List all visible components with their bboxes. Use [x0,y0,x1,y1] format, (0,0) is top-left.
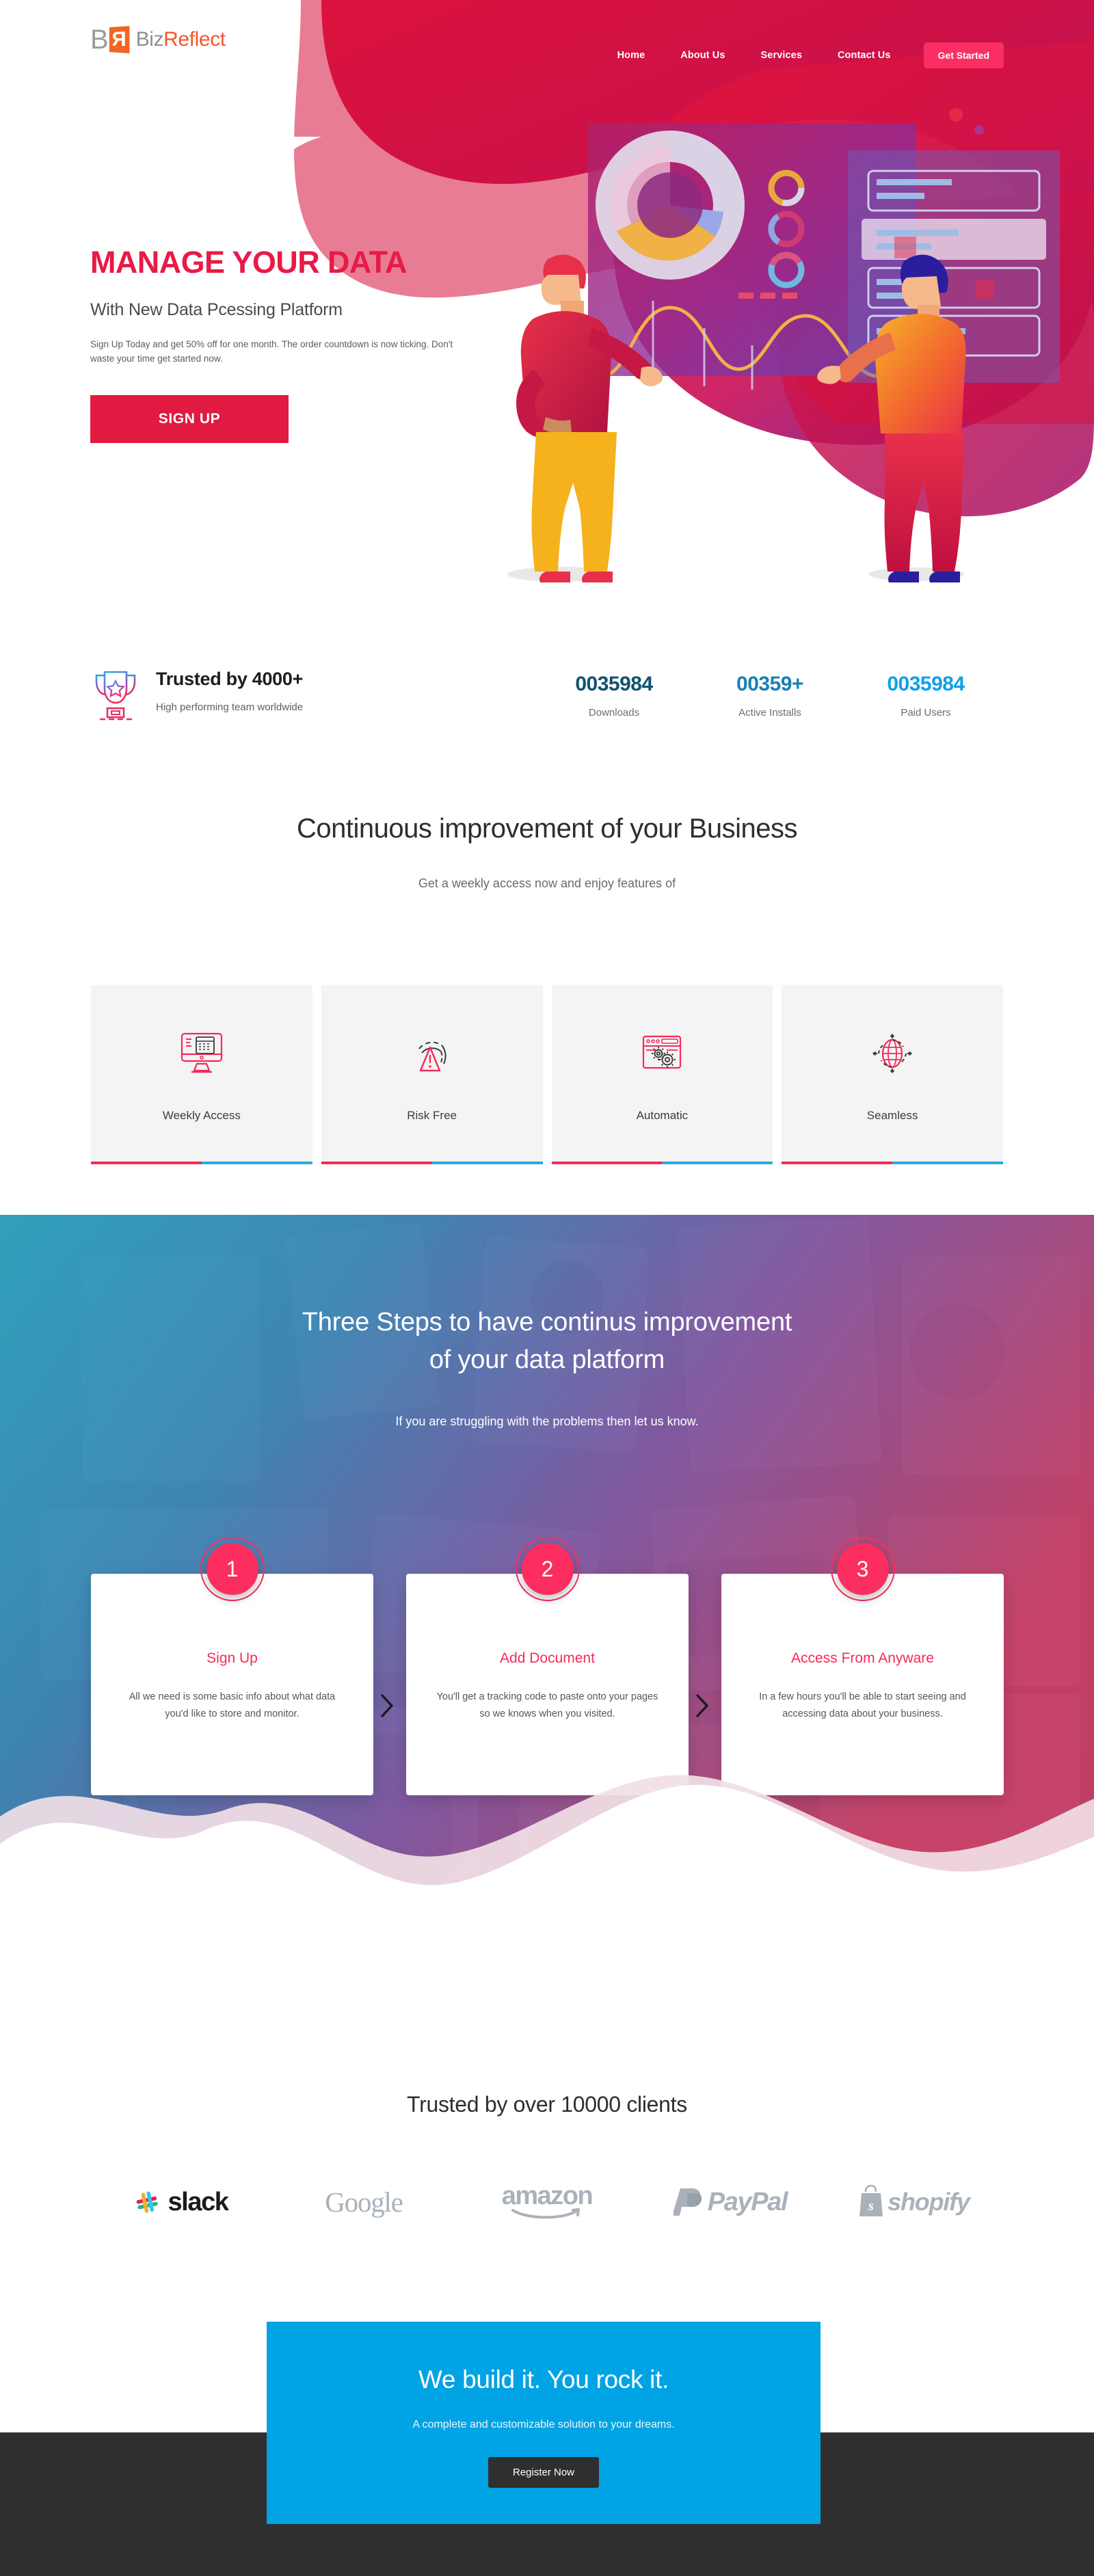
stat-group: 0035984 Downloads 00359+ Active Installs… [536,656,1004,719]
client-logo-paypal-label: PayPal [708,2188,787,2217]
get-started-button[interactable]: Get Started [924,42,1004,68]
clients-section: Trusted by over 10000 clients slack Goog… [0,2092,1094,2227]
stat-downloads: 0035984 Downloads [536,673,692,719]
client-logo-google: Google [272,2177,455,2227]
client-logo-amazon: amazon [455,2177,639,2227]
browser-gears-icon [637,1027,687,1082]
steps-heading: Three Steps to have continus improvement… [0,1304,1094,1379]
stat-paid-users-label: Paid Users [848,707,1004,719]
step-title: Sign Up [117,1650,347,1667]
client-logo-amazon-label: amazon [502,2184,592,2208]
brand-logo[interactable]: B R BizReflect [90,26,226,53]
stat-paid-users: 0035984 Paid Users [848,673,1004,719]
hero-section: B R BizReflect Home About Us Services Co… [0,0,1094,643]
register-now-button[interactable]: Register Now [488,2457,599,2488]
monitor-calendar-icon [176,1027,227,1082]
feature-label: Seamless [867,1109,918,1123]
feature-card-seamless[interactable]: Seamless [782,985,1003,1164]
stat-active-installs-value: 00359+ [692,673,848,696]
nav-item-home[interactable]: Home [600,50,663,61]
hero-signup-button[interactable]: SIGN UP [90,395,289,443]
svg-text:s: s [868,2199,874,2214]
feature-label: Automatic [637,1109,689,1123]
nav-item-contact-us[interactable]: Contact Us [820,50,909,61]
hero-description: Sign Up Today and get 50% off for one mo… [90,338,459,366]
warning-gauge-icon [407,1027,457,1082]
feature-label: Weekly Access [163,1109,241,1123]
step-title: Add Document [432,1650,663,1667]
client-logo-shopify-label: shopify [888,2188,970,2216]
chevron-right-icon [694,1693,710,1719]
step-description: All we need is some basic info about wha… [117,1689,347,1722]
step-number-badge: 3 [837,1543,889,1595]
feature-card-automatic[interactable]: Automatic [552,985,773,1164]
amazon-smile-icon [510,2208,584,2221]
stat-downloads-value: 0035984 [536,673,692,696]
client-logo-shopify: s shopify [822,2177,1005,2227]
step-number-badge: 1 [206,1543,258,1595]
steps-heading-line2: of your data platform [429,1345,665,1374]
hero-subtitle: With New Data Pcessing Platform [90,300,514,320]
main-navigation: B R BizReflect Home About Us Services Co… [0,0,1094,77]
shopify-bag-icon: s [857,2185,885,2219]
feature-label: Risk Free [407,1109,457,1123]
steps-section: Three Steps to have continus improvement… [0,1215,1094,1912]
trophy-icon [90,669,141,722]
globe-arrows-icon [867,1027,918,1082]
wave-divider [0,1734,1094,1912]
client-logo-google-label: Google [325,2186,403,2218]
steps-heading-line1: Three Steps to have continus improvement [302,1308,792,1337]
nav-item-about-us[interactable]: About Us [663,50,743,61]
feature-underline [91,1162,312,1164]
logo-reversed-r: R [111,29,126,50]
logo-word-reflect: Reflect [163,28,226,51]
hero-illustration [465,103,1094,595]
cta-heading: We build it. You rock it. [267,2365,820,2394]
clients-heading: Trusted by over 10000 clients [0,2092,1094,2117]
logo-letter-b: B [90,26,108,53]
hero-title: MANAGE YOUR DATA [90,246,514,278]
stats-section: Trusted by 4000+ High performing team wo… [0,656,1094,779]
stat-active-installs: 00359+ Active Installs [692,673,848,719]
trusted-subtitle: High performing team worldwide [156,701,303,713]
improvement-subheading: Get a weekly access now and enjoy featur… [0,876,1094,891]
improvement-heading: Continuous improvement of your Business [0,814,1094,844]
paypal-icon [673,2184,705,2220]
stat-paid-users-value: 0035984 [848,673,1004,696]
chevron-right-icon [379,1693,395,1719]
client-logo-row: slack Google amazon PayPal s shopify [0,2177,1094,2227]
nav-item-services[interactable]: Services [743,50,820,61]
hero-copy: MANAGE YOUR DATA With New Data Pcessing … [90,246,514,443]
feature-underline [552,1162,773,1164]
steps-subheading: If you are struggling with the problems … [0,1414,1094,1429]
stat-downloads-label: Downloads [536,707,692,719]
step-description: You'll get a tracking code to paste onto… [432,1689,663,1722]
logo-mark-icon: B R [90,26,129,53]
logo-wordmark: BizReflect [136,28,226,51]
trusted-title: Trusted by 4000+ [156,669,303,690]
step-number-badge: 2 [522,1543,574,1595]
stat-active-installs-label: Active Installs [692,707,848,719]
client-logo-paypal: PayPal [639,2177,822,2227]
logo-orange-square: R [109,26,130,53]
step-title: Access From Anyware [747,1650,978,1667]
feature-underline [321,1162,543,1164]
feature-card-row: Weekly Access Risk Free [91,985,1003,1164]
feature-underline [782,1162,1003,1164]
nav-links: Home About Us Services Contact Us Get St… [600,42,1004,68]
improvement-section: Continuous improvement of your Business … [0,814,1094,891]
logo-word-biz: Biz [136,28,163,51]
client-logo-slack: slack [89,2177,272,2227]
steps-header: Three Steps to have continus improvement… [0,1215,1094,1429]
trusted-block: Trusted by 4000+ High performing team wo… [90,656,522,722]
cta-subheading: A complete and customizable solution to … [267,2419,820,2431]
feature-card-weekly-access[interactable]: Weekly Access [91,985,312,1164]
trusted-text: Trusted by 4000+ High performing team wo… [156,669,303,713]
feature-card-risk-free[interactable]: Risk Free [321,985,543,1164]
step-description: In a few hours you'll be able to start s… [747,1689,978,1722]
cta-banner: We build it. You rock it. A complete and… [267,2322,820,2524]
slack-icon [133,2186,164,2218]
client-logo-slack-label: slack [168,2188,228,2217]
